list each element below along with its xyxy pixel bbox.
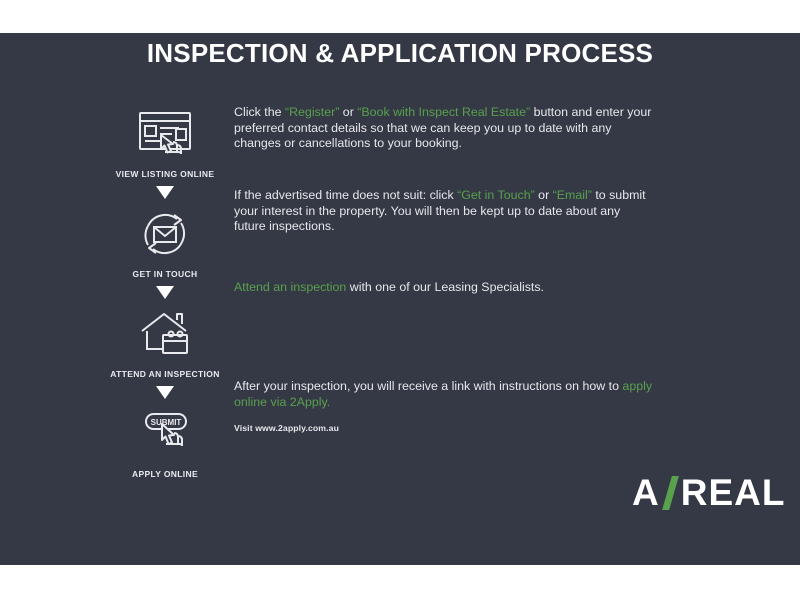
brand-logo: A REAL: [632, 472, 785, 514]
step-1-label: VIEW LISTING ONLINE: [85, 169, 245, 179]
step-1: VIEW LISTING ONLINE: [85, 105, 245, 179]
step-1-text: Click the “Register” or “Book with Inspe…: [234, 105, 654, 188]
step-4-label: APPLY ONLINE: [85, 469, 245, 479]
logo-text-real: REAL: [681, 472, 786, 514]
poster-page: INSPECTION & APPLICATION PROCESS: [0, 0, 800, 600]
submit-icon-text: SUBMIT: [151, 418, 182, 427]
logo-text-a: A: [632, 472, 660, 514]
envelope-refresh-icon: [85, 205, 245, 263]
logo-slash-icon: [663, 474, 678, 512]
step-2: GET IN TOUCH: [85, 205, 245, 279]
house-calendar-icon: [85, 305, 245, 363]
page-title: INSPECTION & APPLICATION PROCESS: [0, 38, 800, 69]
connector-arrow-2: [85, 279, 245, 305]
step-2-label: GET IN TOUCH: [85, 269, 245, 279]
connector-arrow-1: [85, 179, 245, 205]
step-2-text: If the advertised time does not suit: cl…: [234, 188, 654, 280]
apply-website-note: Visit www.2apply.com.au: [234, 423, 654, 433]
step-text-column: Click the “Register” or “Book with Inspe…: [234, 105, 654, 433]
step-icon-column: VIEW LISTING ONLINE GET IN TOUCH: [85, 105, 245, 479]
step-3: ATTEND AN INSPECTION: [85, 305, 245, 379]
listing-window-click-icon: [85, 105, 245, 163]
step-3-text: Attend an inspection with one of our Lea…: [234, 280, 654, 379]
submit-button-click-icon: SUBMIT: [85, 405, 245, 463]
step-4-text: After your inspection, you will receive …: [234, 379, 654, 410]
step-4: SUBMIT APPLY ONLINE: [85, 405, 245, 479]
step-3-label: ATTEND AN INSPECTION: [85, 369, 245, 379]
connector-arrow-3: [85, 379, 245, 405]
